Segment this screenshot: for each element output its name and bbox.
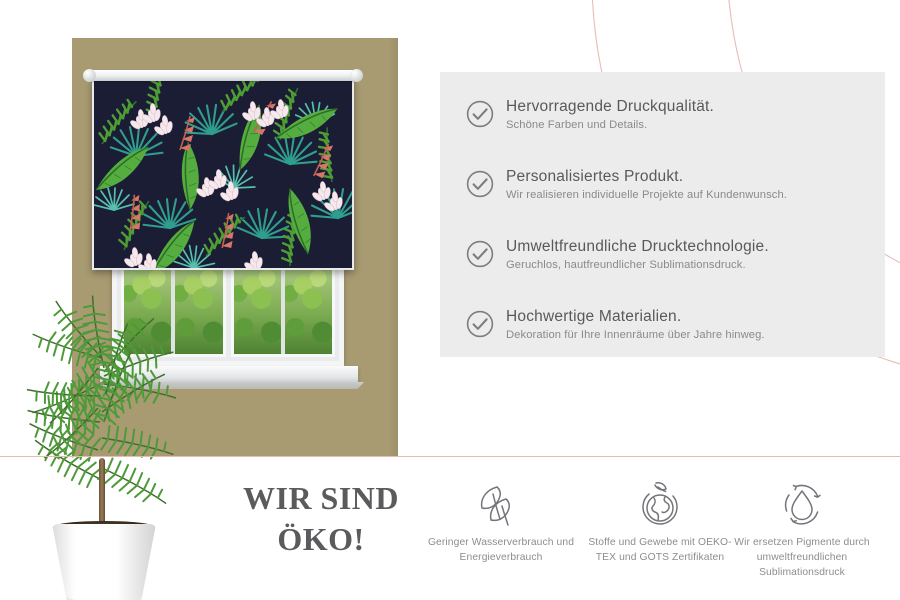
feature-title: Umweltfreundliche Drucktechnologie. bbox=[506, 238, 769, 256]
section-divider bbox=[0, 456, 900, 457]
eco-caption: Stoffe und Gewebe mit OEKO-TEX und GOTS … bbox=[580, 536, 740, 566]
two-leaves-icon bbox=[421, 474, 581, 532]
water-drop-recycle-icon bbox=[722, 474, 882, 532]
features-panel: Hervorragende Druckqualität. Schöne Farb… bbox=[440, 72, 885, 357]
eco-heading-line1: WIR SIND bbox=[216, 478, 426, 519]
check-circle-icon bbox=[466, 170, 494, 198]
eco-item: Stoffe und Gewebe mit OEKO-TEX und GOTS … bbox=[580, 474, 740, 566]
eco-caption: Wir ersetzen Pigmente durch umweltfreund… bbox=[722, 536, 882, 581]
eco-heading: WIR SIND ÖKO! bbox=[216, 478, 426, 560]
globe-leaf-icon bbox=[580, 474, 740, 532]
feature-subtitle: Schöne Farben und Details. bbox=[506, 118, 714, 133]
feature-item: Hochwertige Materialien. Dekoration für … bbox=[466, 308, 765, 342]
eco-item: Geringer Wasserverbrauch und Energieverb… bbox=[421, 474, 581, 566]
plant-pot bbox=[52, 524, 156, 600]
eco-item: Wir ersetzen Pigmente durch umweltfreund… bbox=[722, 474, 882, 581]
check-circle-icon bbox=[466, 100, 494, 128]
feature-subtitle: Geruchlos, hautfreundlicher Sublimations… bbox=[506, 258, 769, 273]
feature-subtitle: Wir realisieren individuelle Projekte au… bbox=[506, 188, 787, 203]
eco-caption: Geringer Wasserverbrauch und Energieverb… bbox=[421, 536, 581, 566]
feature-subtitle: Dekoration für Ihre Innenräume über Jahr… bbox=[506, 328, 765, 343]
potted-palm bbox=[0, 272, 224, 600]
feature-item: Personalisiertes Produkt. Wir realisiere… bbox=[466, 168, 787, 202]
window-pane bbox=[285, 270, 332, 354]
feature-item: Umweltfreundliche Drucktechnologie. Geru… bbox=[466, 238, 769, 272]
tropical-pattern-artwork bbox=[94, 78, 354, 270]
feature-title: Personalisiertes Produkt. bbox=[506, 168, 787, 186]
promo-banner: Hervorragende Druckqualität. Schöne Farb… bbox=[0, 0, 900, 600]
window-pane bbox=[234, 270, 281, 354]
feature-title: Hochwertige Materialien. bbox=[506, 308, 765, 326]
window-sash-right bbox=[231, 267, 336, 357]
palm-trunk bbox=[99, 458, 105, 528]
roller-blind bbox=[92, 70, 354, 270]
feature-item: Hervorragende Druckqualität. Schöne Farb… bbox=[466, 98, 714, 132]
feature-title: Hervorragende Druckqualität. bbox=[506, 98, 714, 116]
blind-fabric-tropical-pattern bbox=[92, 78, 354, 270]
eco-heading-line2: ÖKO! bbox=[216, 519, 426, 560]
check-circle-icon bbox=[466, 240, 494, 268]
check-circle-icon bbox=[466, 310, 494, 338]
blind-roller-bar bbox=[88, 70, 358, 81]
